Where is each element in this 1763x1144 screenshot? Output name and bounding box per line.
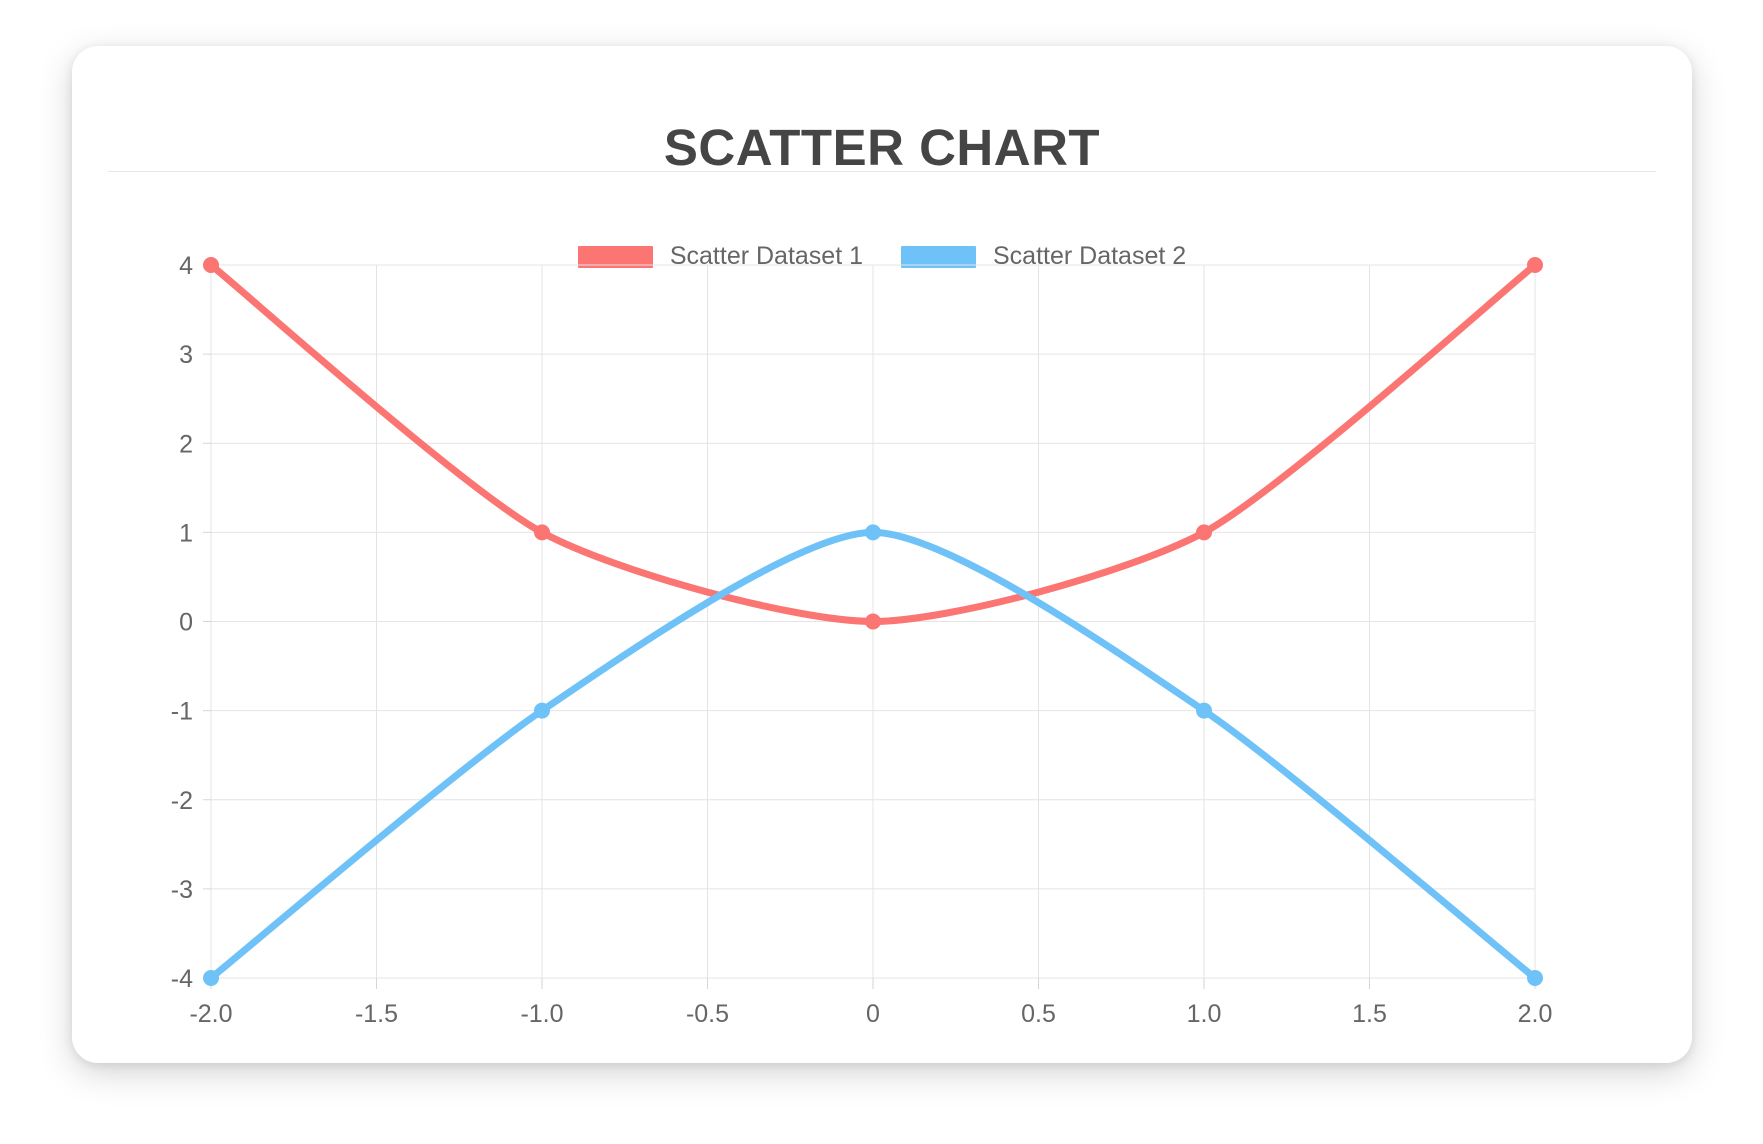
data-point-series-1[interactable] — [866, 614, 881, 629]
x-axis-tick-label: -1.0 — [520, 1000, 563, 1028]
data-point-series-1[interactable] — [1528, 258, 1543, 273]
y-axis-tick-label: -1 — [171, 698, 193, 726]
data-point-series-1[interactable] — [535, 525, 550, 540]
screenshot-root: SCATTER CHART Scatter Dataset 1 Scatter … — [0, 0, 1763, 1144]
data-point-series-2[interactable] — [535, 703, 550, 718]
data-point-series-1[interactable] — [204, 258, 219, 273]
y-axis-tick-label: 1 — [179, 519, 193, 547]
y-axis-tick-label: 4 — [179, 252, 193, 280]
plot-area[interactable]: 43210-1-2-3-4-2.0-1.5-1.0-0.500.51.01.52… — [72, 46, 1692, 1063]
x-axis-tick-label: 1.0 — [1187, 1000, 1222, 1028]
x-axis-tick-label: 0 — [866, 1000, 880, 1028]
y-axis-tick-label: -4 — [171, 965, 193, 993]
y-axis-tick-label: -2 — [171, 787, 193, 815]
y-axis-tick-label: -3 — [171, 876, 193, 904]
y-axis-tick-label: 3 — [179, 341, 193, 369]
chart-card: SCATTER CHART Scatter Dataset 1 Scatter … — [72, 46, 1692, 1063]
x-axis-tick-label: -1.5 — [355, 1000, 398, 1028]
y-axis-tick-label: 0 — [179, 609, 193, 637]
y-axis-tick-label: 2 — [179, 430, 193, 458]
data-point-series-2[interactable] — [866, 525, 881, 540]
data-point-series-2[interactable] — [1528, 971, 1543, 986]
x-axis-tick-label: -0.5 — [686, 1000, 729, 1028]
scatter-plot-svg: 43210-1-2-3-4-2.0-1.5-1.0-0.500.51.01.52… — [72, 46, 1692, 1063]
data-point-series-1[interactable] — [1197, 525, 1212, 540]
x-axis-tick-label: -2.0 — [189, 1000, 232, 1028]
x-axis-tick-label: 0.5 — [1021, 1000, 1056, 1028]
x-axis-tick-label: 1.5 — [1352, 1000, 1387, 1028]
data-point-series-2[interactable] — [1197, 703, 1212, 718]
axis-label-layer: 43210-1-2-3-4-2.0-1.5-1.0-0.500.51.01.52… — [171, 252, 1553, 1028]
data-point-series-2[interactable] — [204, 971, 219, 986]
x-axis-tick-label: 2.0 — [1518, 1000, 1553, 1028]
